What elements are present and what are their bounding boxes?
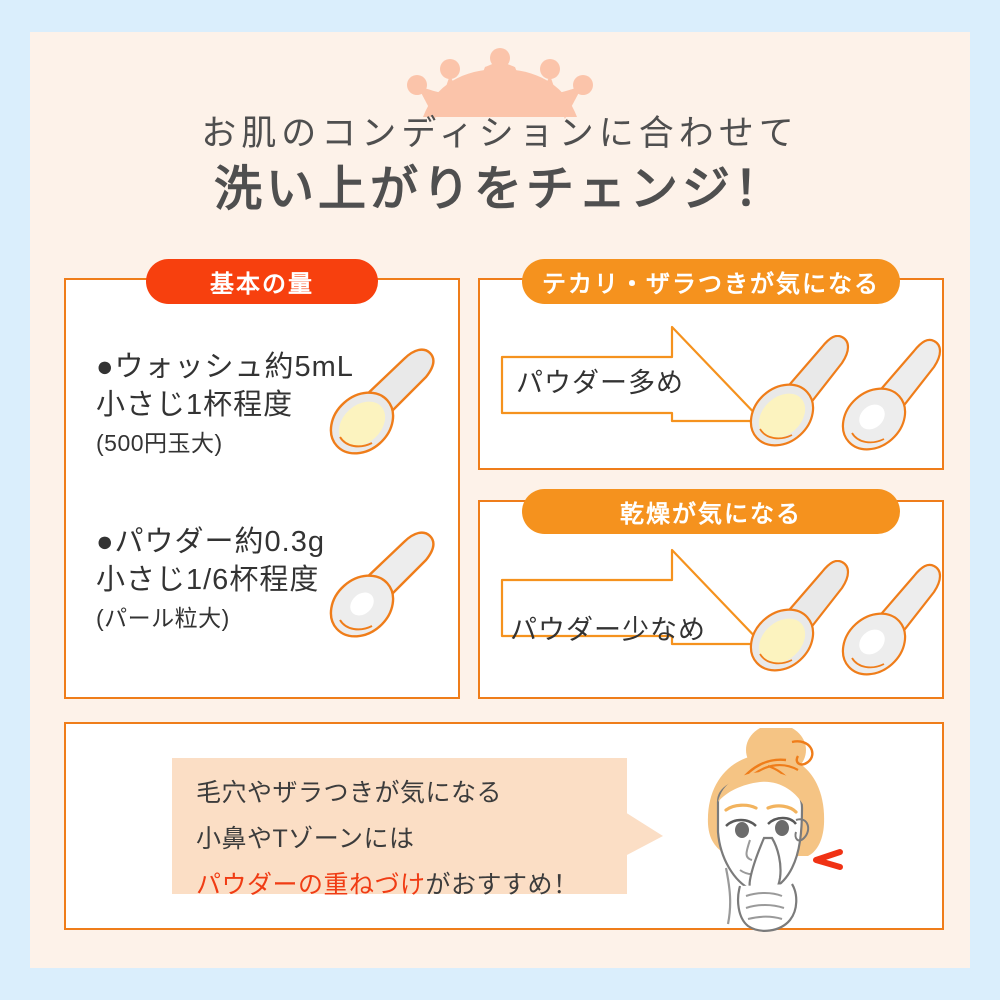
amount-wash-line2: 小さじ1杯程度 bbox=[96, 386, 354, 424]
infographic-stage: お肌のコンディションに合わせて 洗い上がりをチェンジ！ 基本の量 ●ウォッシュ約… bbox=[0, 0, 1000, 1000]
amount-powder-line1: ●パウダー約0.3g bbox=[96, 523, 325, 561]
amount-wash-line1: ●ウォッシュ約5mL bbox=[96, 348, 354, 386]
page-title-line2: 洗い上がりをチェンジ！ bbox=[0, 160, 1000, 220]
tip-line3: パウダーの重ねづけがおすすめ！ bbox=[196, 862, 626, 908]
amount-powder-line3: (パール粒大) bbox=[96, 602, 325, 634]
arrow-label-oily: パウダー多め bbox=[516, 361, 684, 400]
speech-bubble-tail bbox=[625, 812, 665, 858]
two-spoons-icon-dry bbox=[738, 560, 943, 695]
tip-text: 毛穴やザラつきが気になる 小鼻やTゾーンには パウダーの重ねづけがおすすめ！ bbox=[196, 770, 626, 908]
woman-touching-cheek-icon bbox=[668, 728, 873, 933]
badge-basic-amount: 基本の量 bbox=[146, 259, 378, 304]
crown-icon bbox=[405, 45, 595, 121]
tip-line3-highlight: パウダーの重ねづけ bbox=[196, 871, 426, 899]
amount-powder: ●パウダー約0.3g 小さじ1/6杯程度 (パール粒大) bbox=[96, 523, 325, 634]
badge-dry-skin: 乾燥が気になる bbox=[522, 489, 900, 534]
spoon-with-cream-icon bbox=[322, 345, 442, 465]
page-title: お肌のコンディションに合わせて 洗い上がりをチェンジ！ bbox=[0, 112, 1000, 220]
amount-wash: ●ウォッシュ約5mL 小さじ1杯程度 (500円玉大) bbox=[96, 348, 354, 459]
tip-line2: 小鼻やTゾーンには bbox=[196, 816, 626, 862]
page-title-line1: お肌のコンディションに合わせて bbox=[0, 112, 1000, 156]
amount-powder-line2: 小さじ1/6杯程度 bbox=[96, 561, 325, 599]
tip-line1: 毛穴やザラつきが気になる bbox=[196, 770, 626, 816]
two-spoons-icon-oily bbox=[738, 335, 943, 470]
spoon-with-powder-icon bbox=[322, 528, 442, 648]
badge-oily-skin: テカリ・ザラつきが気になる bbox=[522, 259, 900, 304]
tip-line3-rest: がおすすめ！ bbox=[426, 871, 579, 899]
amount-wash-line3: (500円玉大) bbox=[96, 427, 354, 459]
arrow-label-dry: パウダー少なめ bbox=[510, 608, 706, 647]
